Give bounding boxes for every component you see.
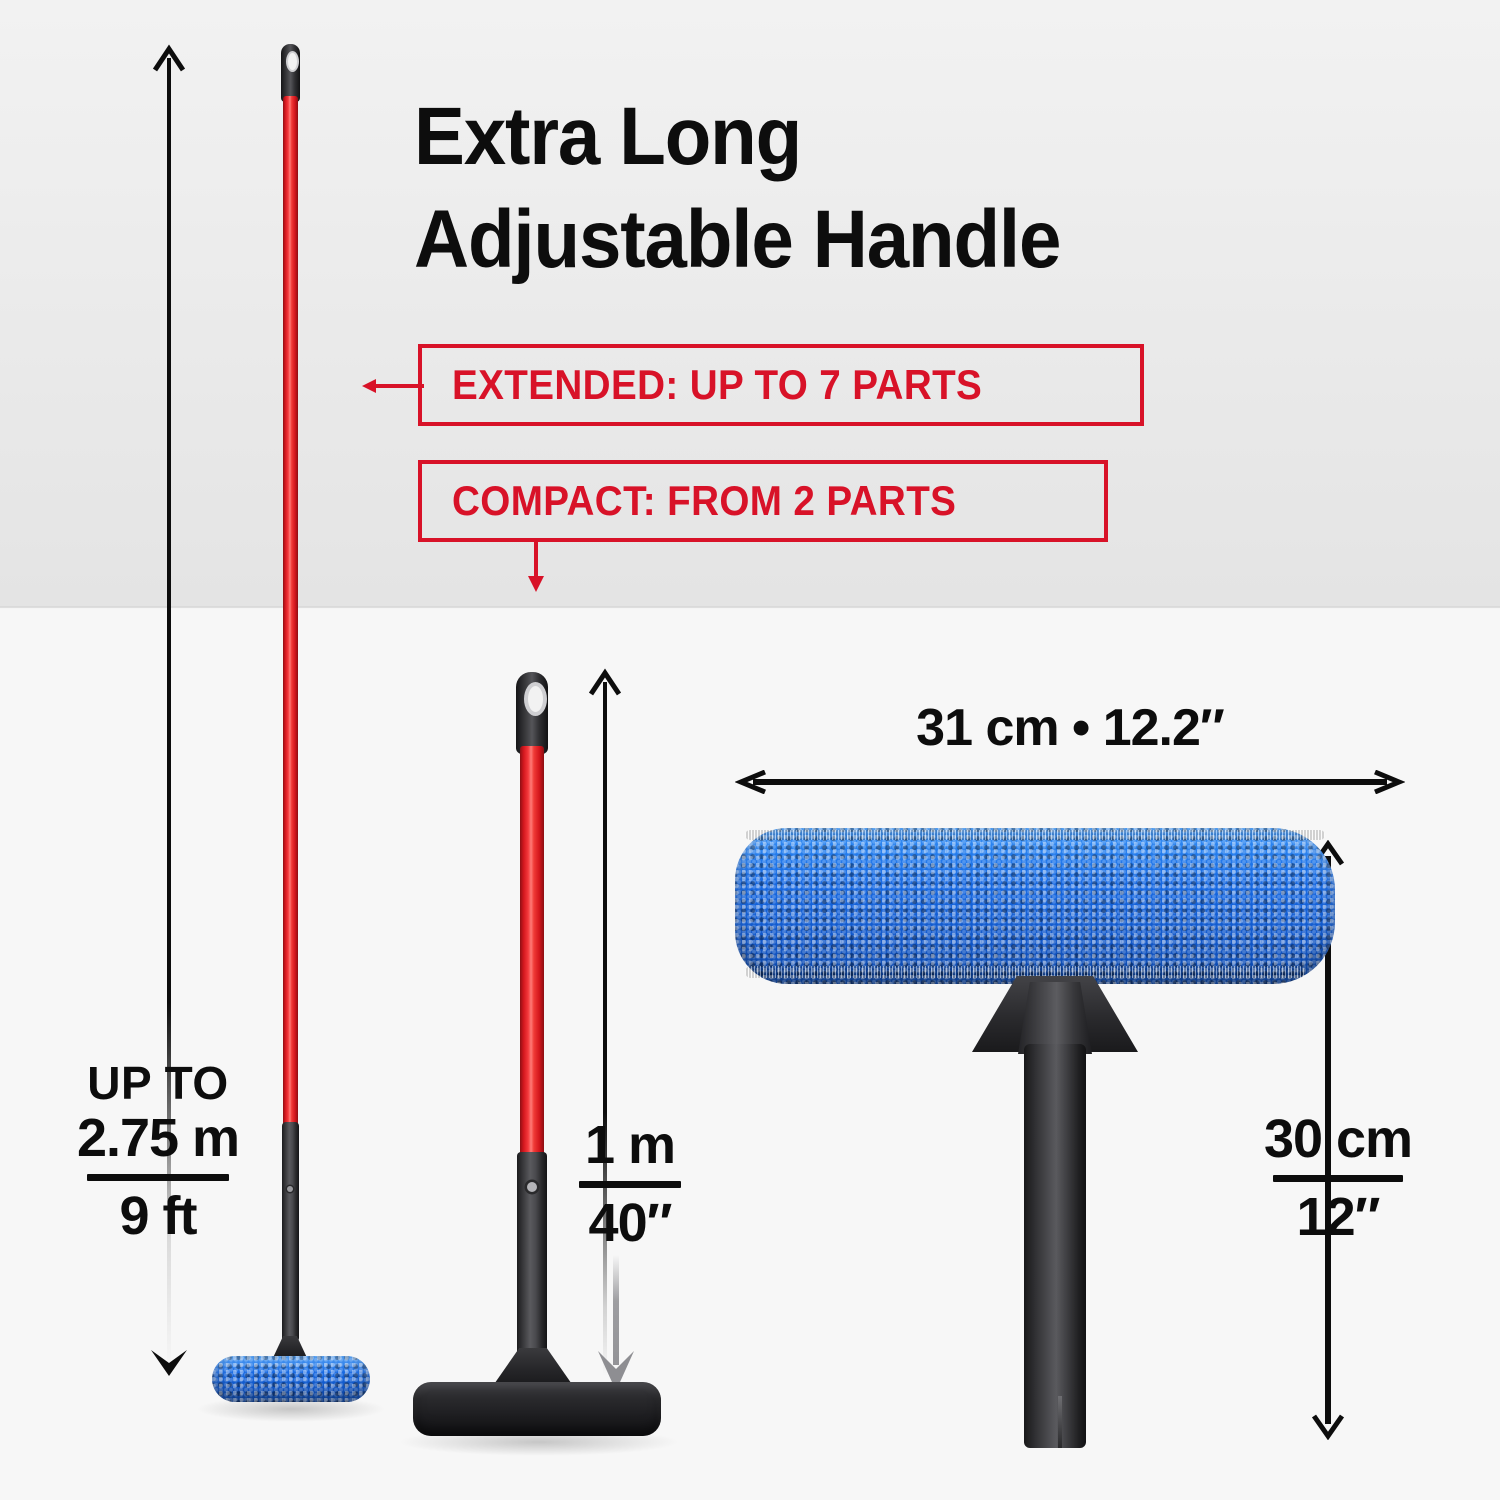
microfiber-pad-blue	[735, 828, 1335, 984]
dimension-combined: 31 cm • 12.2″	[870, 700, 1270, 756]
callout-extended-label: EXTENDED: UP TO 7 PARTS	[452, 361, 982, 409]
dimension-imperial: 9 ft	[58, 1187, 258, 1245]
dimension-divider	[87, 1174, 229, 1181]
mop-shadow	[398, 1428, 680, 1456]
infographic-canvas: Extra Long Adjustable Handle EXTENDED: U…	[0, 0, 1500, 1500]
dimension-line-pad-width	[735, 770, 1405, 794]
arrowhead-right-icon	[1371, 770, 1405, 794]
dimension-metric: 30 cm	[1238, 1110, 1438, 1168]
telescopic-pole-red	[283, 96, 298, 1126]
title-line-1: Extra Long	[414, 86, 1214, 189]
dimension-metric: 1 m	[555, 1116, 705, 1174]
dimension-divider	[1273, 1175, 1403, 1182]
pad-stitched-edge	[745, 830, 1325, 840]
tube-slot-notch	[1058, 1396, 1062, 1448]
callout-arrow-down-icon	[528, 542, 544, 590]
callout-compact: COMPACT: FROM 2 PARTS	[418, 460, 1108, 542]
callout-arrow-left-icon	[362, 379, 424, 393]
title-line-2: Adjustable Handle	[414, 189, 1214, 292]
telescopic-pole-red	[520, 746, 544, 1160]
pole-lower-section	[282, 1122, 299, 1342]
pole-lock-button[interactable]	[527, 1182, 537, 1192]
dimension-label-pad-width: 31 cm • 12.2″	[870, 700, 1270, 756]
dimension-divider	[579, 1181, 681, 1188]
dimension-prefix: UP TO	[58, 1058, 258, 1109]
dimension-label-extended: UP TO 2.75 m 9 ft	[58, 1058, 258, 1245]
arrowhead-down-icon	[1310, 1412, 1346, 1440]
callout-compact-label: COMPACT: FROM 2 PARTS	[452, 477, 956, 525]
callout-extended: EXTENDED: UP TO 7 PARTS	[418, 344, 1144, 426]
page-title: Extra Long Adjustable Handle	[414, 86, 1214, 291]
background-seam	[0, 606, 1500, 609]
pole-lock-button[interactable]	[287, 1186, 293, 1192]
mop-shadow	[196, 1396, 386, 1422]
dimension-label-pad-height: 30 cm 12″	[1238, 1110, 1438, 1247]
dimension-label-compact: 1 m 40″	[555, 1116, 705, 1253]
dimension-metric: 2.75 m	[58, 1109, 258, 1167]
handle-tube	[1024, 1044, 1086, 1448]
dimension-imperial: 40″	[555, 1194, 705, 1252]
pole-end-cap	[516, 672, 548, 754]
pole-end-cap	[281, 44, 300, 102]
dimension-imperial: 12″	[1238, 1188, 1438, 1246]
hanging-loop-icon	[524, 682, 547, 716]
hanging-loop-icon	[286, 51, 299, 72]
arrowhead-down-icon	[149, 1344, 189, 1380]
